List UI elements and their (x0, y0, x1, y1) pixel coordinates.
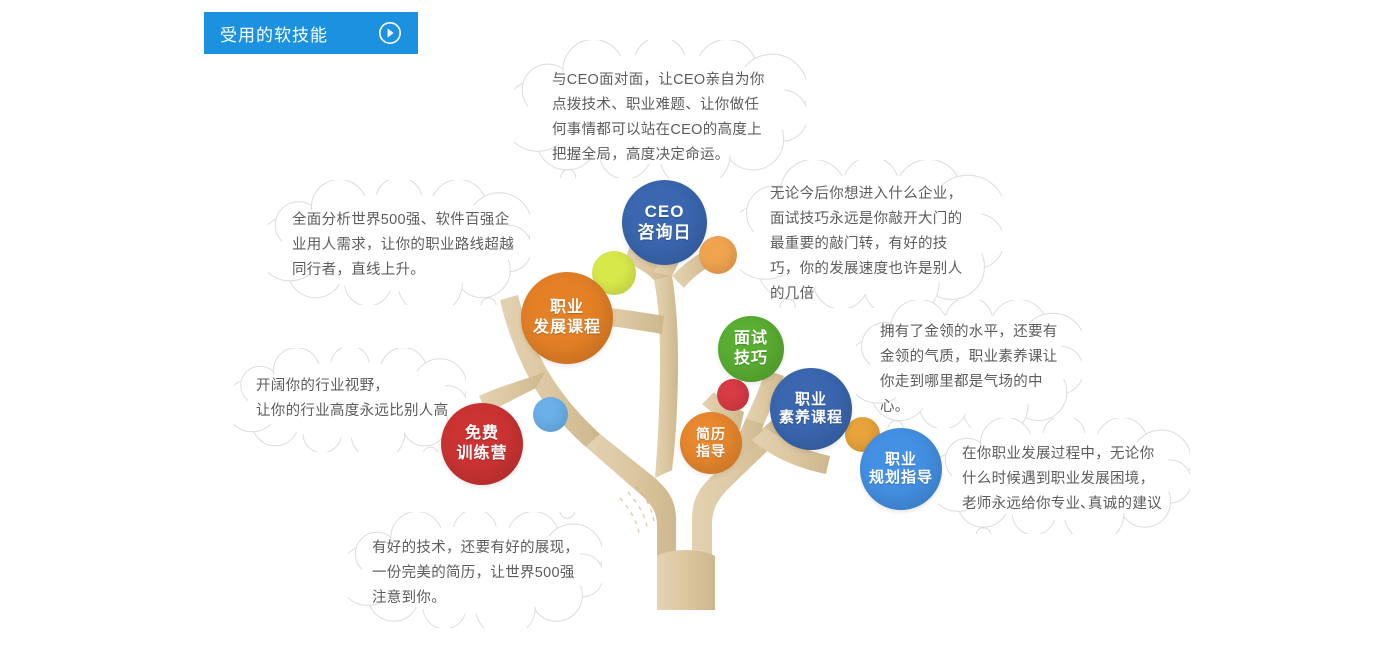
bubble-career-dev-text: 全面分析世界500强、软件百强企 业用人需求，让你的职业路线超越 同行者，直线上… (268, 180, 530, 283)
bubble-bootcamp-text: 开阔你的行业视野， 让你的行业高度永远比别人高 (234, 348, 466, 424)
bubble-quality-text: 拥有了金领的水平，还要有 金领的气质，职业素养课让 你走到哪里都是气场的中 心。 (856, 300, 1082, 420)
node-resume-guidance-line1: 简历 (696, 426, 726, 443)
node-career-planning-guidance-line2: 规划指导 (869, 469, 933, 487)
node-interview-skills-line1: 面试 (734, 329, 768, 349)
node-career-planning-guidance[interactable]: 职业规划指导 (860, 428, 942, 510)
bubble-ceo: 与CEO面对面，让CEO亲自为你 点拨技术、职业难题、让你做任 何事情都可以站在… (514, 40, 806, 178)
node-resume-guidance[interactable]: 简历指导 (680, 412, 742, 474)
node-professional-quality-course-line2: 素养课程 (779, 409, 843, 427)
node-interview-skills-line2: 技巧 (734, 349, 768, 369)
bubble-interview: 无论今后你想进入什么企业， 面试技巧永远是你敲开大门的 最重要的敲门转，有好的技… (740, 160, 1002, 308)
bubble-planning: 在你职业发展过程中，无论你 什么时候遇到职业发展困境， 老师永远给你专业､真诚的… (938, 418, 1190, 534)
bubble-resume-text: 有好的技术，还要有好的展现， 一份完美的简历，让世界500强 注意到你。 (348, 512, 602, 611)
infographic-canvas: 受用的软技能 与CEO面对面，让CEO亲自为你 点拨技术、职业难题、让你做任 何… (0, 0, 1382, 659)
leafdot-red (717, 379, 749, 411)
node-ceo-consulting-day[interactable]: CEO咨询日 (622, 180, 707, 265)
bubble-resume: 有好的技术，还要有好的展现， 一份完美的简历，让世界500强 注意到你。 (348, 512, 602, 628)
node-free-bootcamp[interactable]: 免费训练营 (441, 403, 523, 485)
section-header-label: 受用的软技能 (220, 21, 328, 46)
node-interview-skills[interactable]: 面试技巧 (718, 316, 784, 382)
bubble-bootcamp: 开阔你的行业视野， 让你的行业高度永远比别人高 (234, 348, 466, 452)
bubble-planning-text: 在你职业发展过程中，无论你 什么时候遇到职业发展困境， 老师永远给你专业､真诚的… (938, 418, 1190, 517)
node-career-planning-guidance-line1: 职业 (885, 451, 917, 469)
node-professional-quality-course-line1: 职业 (795, 391, 827, 409)
node-free-bootcamp-line2: 训练营 (456, 444, 507, 464)
bubble-career-dev: 全面分析世界500强、软件百强企 业用人需求，让你的职业路线超越 同行者，直线上… (268, 180, 530, 305)
node-resume-guidance-line2: 指导 (696, 443, 726, 460)
node-free-bootcamp-line1: 免费 (465, 424, 499, 444)
node-career-development-course-line1: 职业 (550, 298, 584, 318)
section-header-tag[interactable]: 受用的软技能 (204, 12, 418, 54)
node-ceo-consulting-day-line1: CEO (645, 202, 685, 223)
node-career-development-course[interactable]: 职业发展课程 (521, 272, 613, 364)
node-career-development-course-line2: 发展课程 (533, 318, 601, 338)
leafdot-orange-top (699, 236, 737, 274)
bubble-quality: 拥有了金领的水平，还要有 金领的气质，职业素养课让 你走到哪里都是气场的中 心。 (856, 300, 1082, 428)
bubble-ceo-text: 与CEO面对面，让CEO亲自为你 点拨技术、职业难题、让你做任 何事情都可以站在… (514, 40, 806, 168)
node-ceo-consulting-day-line2: 咨询日 (638, 223, 692, 244)
node-professional-quality-course[interactable]: 职业素养课程 (770, 368, 852, 450)
bubble-interview-text: 无论今后你想进入什么企业， 面试技巧永远是你敲开大门的 最重要的敲门转，有好的技… (740, 160, 1002, 307)
leafdot-lightblue (533, 397, 568, 432)
arrow-right-circle-icon[interactable] (378, 21, 402, 45)
